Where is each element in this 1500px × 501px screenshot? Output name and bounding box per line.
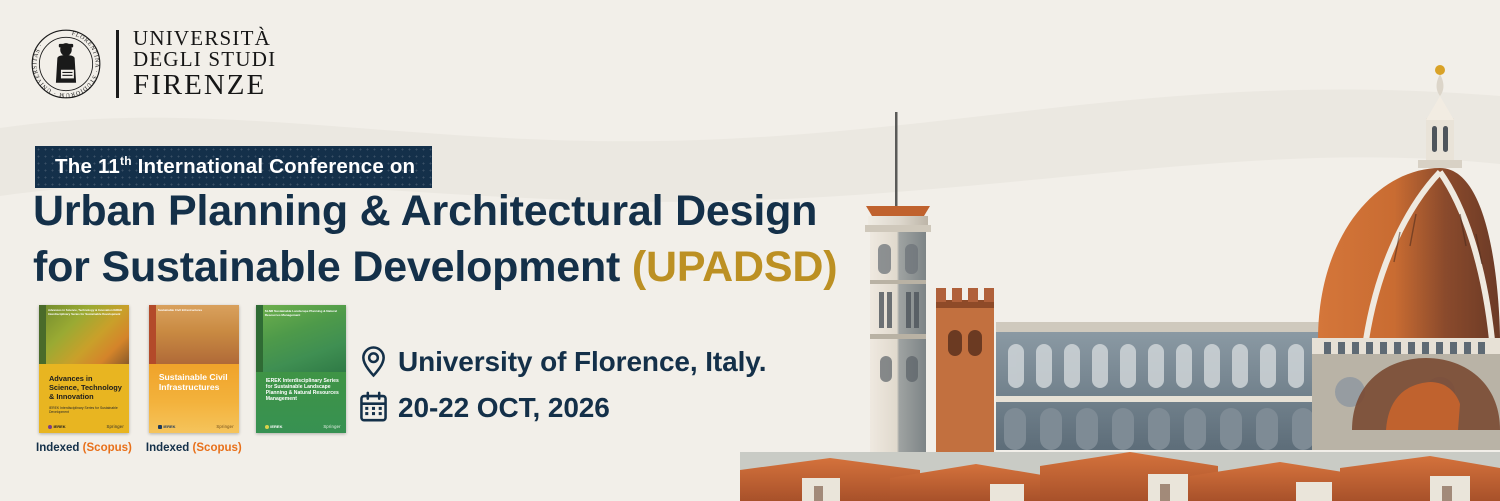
book-publisher: Springer — [323, 424, 340, 429]
book-item[interactable]: Advances in Science, Technology & Innova… — [36, 305, 132, 454]
venue-location: University of Florence, Italy. — [398, 346, 766, 378]
title-line-2: for Sustainable Development (UPADSD) — [33, 240, 837, 296]
map-pin-icon — [358, 345, 389, 378]
indexed-caption: Indexed (Scopus) — [146, 442, 242, 454]
giotto-campanile — [865, 112, 931, 501]
imprint-dot-icon — [48, 425, 52, 429]
book-cover-top-text: Advances in Science, Technology & Innova… — [48, 309, 125, 317]
book-subtitle: IEREK Interdisciplinary Series for Susta… — [49, 406, 124, 415]
florence-duomo-image — [740, 0, 1500, 501]
title-line-2-text: for Sustainable Development — [33, 243, 632, 291]
university-wordmark: UNIVERSITÀ DEGLI STUDI FIRENZE — [133, 28, 276, 100]
florence-rooftops — [740, 452, 1500, 501]
university-name-line3: FIRENZE — [133, 71, 276, 100]
book-title: Advances in Science, Technology & Innova… — [49, 374, 124, 401]
imprint-dot-icon — [158, 425, 162, 429]
conference-acronym: (UPADSD) — [632, 243, 837, 291]
book-title: IEREK Interdisciplinary Series for Susta… — [266, 378, 341, 403]
book-cover-body: Sustainable Civil Infrastructures IEREK … — [149, 364, 239, 433]
cathedral-nave — [996, 322, 1326, 450]
book-imprint-logo: IEREK — [158, 424, 176, 429]
conference-date: 20-22 OCT, 2026 — [398, 392, 610, 424]
book-imprint-logo: IEREK — [265, 424, 283, 429]
conference-banner: FLORENTINA · STUDIORUM · UNIVERSITAS · U… — [0, 0, 1500, 501]
book-cover-body: IEREK Interdisciplinary Series for Susta… — [256, 372, 346, 433]
book-title: Sustainable Civil Infrastructures — [159, 372, 234, 393]
date-row: 20-22 OCT, 2026 — [358, 391, 766, 424]
book-item[interactable]: SLNR Sustainable Landscape Planning & Na… — [256, 305, 346, 454]
badge-suffix: International Conference on — [138, 155, 416, 178]
indexed-label: Indexed — [146, 442, 189, 454]
book-cover-ierek-landscape[interactable]: SLNR Sustainable Landscape Planning & Na… — [256, 305, 346, 433]
imprint-dot-icon — [265, 425, 269, 429]
conference-edition-badge: The 11th International Conference on — [35, 146, 432, 188]
university-seal-icon: FLORENTINA · STUDIORUM · UNIVERSITAS · — [30, 28, 102, 100]
logo-divider — [116, 30, 119, 98]
book-imprint: IEREK — [163, 424, 175, 429]
calendar-icon — [358, 391, 389, 424]
university-name-line2: DEGLI STUDI — [133, 49, 276, 70]
indexed-book-series: Advances in Science, Technology & Innova… — [36, 305, 346, 454]
venue-row: University of Florence, Italy. — [358, 345, 766, 378]
book-imprint: IEREK — [53, 424, 65, 429]
book-cover-body: Advances in Science, Technology & Innova… — [39, 364, 129, 433]
indexed-source: (Scopus) — [83, 442, 132, 454]
badge-ordinal: th — [120, 154, 132, 168]
book-cover-top-text: SLNR Sustainable Landscape Planning & Na… — [265, 309, 342, 317]
book-item[interactable]: Sustainable Civil Infrastructures Sustai… — [146, 305, 242, 454]
title-line-1: Urban Planning & Architectural Design — [33, 184, 837, 240]
venue-and-date: University of Florence, Italy. 20-22 OCT… — [358, 345, 766, 437]
book-cover-top-text: Sustainable Civil Infrastructures — [158, 309, 235, 313]
conference-title: Urban Planning & Architectural Design fo… — [33, 184, 837, 296]
indexed-source: (Scopus) — [193, 442, 242, 454]
book-cover-sustainable-civil[interactable]: Sustainable Civil Infrastructures Sustai… — [149, 305, 239, 433]
indexed-caption: Indexed (Scopus) — [36, 442, 132, 454]
indexed-label: Indexed — [36, 442, 79, 454]
book-imprint: IEREK — [270, 424, 282, 429]
university-name-line1: UNIVERSITÀ — [133, 28, 276, 49]
book-publisher: Springer — [216, 424, 233, 429]
badge-prefix: The 11 — [55, 155, 120, 178]
book-cover-advances[interactable]: Advances in Science, Technology & Innova… — [39, 305, 129, 433]
book-imprint-logo: IEREK — [48, 424, 66, 429]
book-cover-artwork — [149, 305, 239, 364]
book-publisher: Springer — [107, 424, 124, 429]
university-logo: FLORENTINA · STUDIORUM · UNIVERSITAS · U… — [30, 28, 276, 100]
